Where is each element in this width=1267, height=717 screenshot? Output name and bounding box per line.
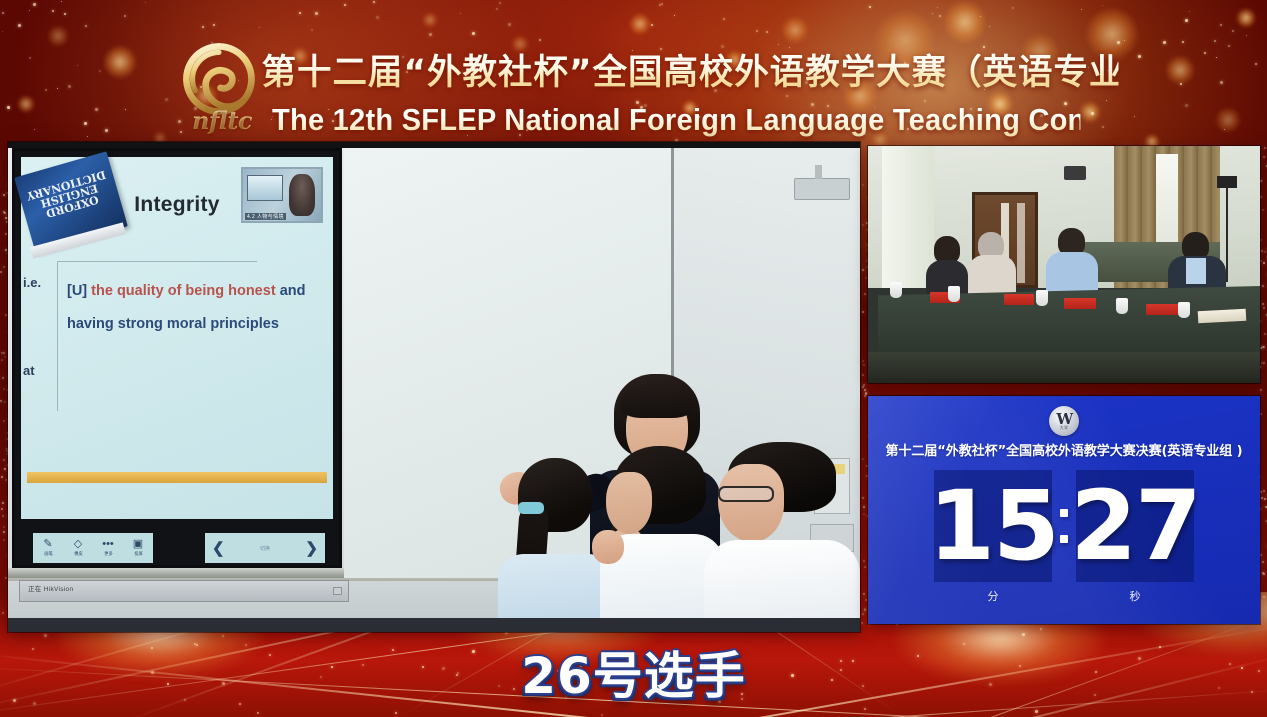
inset-monitor — [247, 175, 283, 201]
judges-video-panel[interactable] — [868, 146, 1260, 383]
judge-nameplate — [1146, 304, 1180, 315]
judge-body — [968, 255, 1016, 294]
colon-dot-top — [1060, 509, 1068, 517]
colon-dot-bottom — [1060, 535, 1068, 543]
toolbar-more-label: 更多 — [104, 551, 113, 557]
toolbar-screen-label: 投屏 — [134, 551, 143, 557]
display-brand-label: 正在 HikVision — [28, 583, 73, 593]
teacher-hair-front — [620, 384, 694, 418]
slide-side-label-2: at — [23, 363, 35, 378]
timer-unit-minutes: 分 — [934, 588, 1052, 604]
projector-mount-icon — [794, 178, 850, 200]
water-cup — [948, 286, 960, 302]
chevron-left-icon[interactable]: ❮ — [212, 539, 225, 557]
countdown-timer-panel: W 大学 第十二届“外教社杯”全国高校外语教学大赛决赛(英语专业组 ) 15 2… — [868, 396, 1260, 624]
camera-tripod-icon — [1226, 186, 1228, 282]
toolbar-screen-button[interactable]: ▣ 投屏 — [123, 533, 153, 563]
judge-figure — [924, 236, 970, 294]
judge-nameplate — [1064, 298, 1096, 309]
judges-room-floor — [868, 352, 1260, 383]
contest-title-cn: 第十二届“外教社杯”全国高校外语教学大赛（英语专业组） — [262, 48, 1119, 98]
nfltc-wordmark: nfltc — [172, 106, 272, 135]
broadcast-stage: nfltc 第十二届“外教社杯”全国高校外语教学大赛（英语专业组） The 12… — [0, 0, 1267, 717]
judge-figure — [966, 232, 1018, 294]
student-face — [718, 464, 784, 542]
inset-figure — [289, 174, 315, 216]
slide-inset-image: 4.2 人物与情境 — [241, 167, 323, 223]
slide-definition: [U] the quality of being honest and havi… — [67, 275, 329, 341]
slide-divider-horizontal — [57, 261, 257, 262]
screen-icon: ▣ — [133, 539, 143, 550]
smart-display[interactable]: OXFORD ENGLISH DICTIONARY Integrity 4.2 … — [12, 148, 342, 568]
students-group — [438, 438, 860, 618]
more-icon: ••• — [102, 539, 114, 550]
judge-body — [926, 260, 968, 294]
water-cup — [1178, 302, 1190, 318]
judge-shirt — [1186, 258, 1206, 284]
timer-unit-seconds: 秒 — [1076, 588, 1194, 604]
main-video-panel[interactable]: Integrity OXFORD ENGLISH DICTIONARY Inte… — [8, 142, 860, 632]
student-hair-tie — [518, 502, 544, 514]
water-cup — [1116, 298, 1128, 314]
timer-clock: 15 27 — [868, 468, 1260, 584]
judge-nameplate — [1004, 294, 1034, 305]
shield-w-logo-icon: W 大学 — [1049, 406, 1079, 436]
eraser-icon: ◇ — [74, 539, 82, 550]
glasses-icon — [718, 486, 774, 502]
wall-speaker-icon — [1064, 166, 1086, 180]
nfltc-logo: nfltc — [172, 40, 272, 140]
student-face — [606, 472, 652, 534]
slide-side-label-1: i.e. — [23, 275, 41, 290]
definition-rest: and — [280, 283, 306, 299]
logo-letter: W — [1056, 412, 1071, 426]
timer-seconds-block: 27 — [1076, 470, 1194, 582]
timer-minutes-block: 15 — [934, 470, 1052, 582]
pen-icon: ✎ — [43, 539, 52, 550]
spiral-swirl-icon — [182, 42, 256, 116]
timer-minutes: 15 — [928, 478, 1058, 574]
slide-divider-vertical — [57, 261, 58, 411]
slide-bottom-strip — [27, 472, 327, 483]
slide-nav-label: 切换 — [260, 545, 270, 552]
presentation-slide: OXFORD ENGLISH DICTIONARY Integrity 4.2 … — [21, 157, 333, 519]
score-sheet — [1198, 309, 1247, 323]
display-slide-nav[interactable]: ❮ 切换 ❯ — [205, 533, 325, 563]
display-brand-bar: 正在 HikVision — [19, 580, 349, 602]
toolbar-pen-button[interactable]: ✎ 画笔 — [33, 533, 63, 563]
contest-header: nfltc 第十二届“外教社杯”全国高校外语教学大赛（英语专业组） The 12… — [0, 14, 1267, 132]
toolbar-more-button[interactable]: ••• 更多 — [93, 533, 123, 563]
student-hand — [592, 530, 624, 564]
student-shirt — [704, 540, 860, 618]
definition-highlight: the quality of being honest — [91, 283, 275, 299]
toolbar-eraser-label: 橡皮 — [74, 551, 83, 557]
timer-title: 第十二届“外教社杯”全国高校外语教学大赛决赛(英语专业组 ) — [870, 440, 1258, 459]
toolbar-eraser-button[interactable]: ◇ 橡皮 — [63, 533, 93, 563]
contest-title-en: The 12th SFLEP National Foreign Language… — [272, 100, 1080, 140]
display-power-button[interactable] — [333, 587, 342, 595]
water-cup — [890, 282, 902, 298]
definition-line2: having strong moral principles — [67, 316, 279, 332]
judge-figure — [1044, 228, 1100, 294]
video-letterbox-bottom — [8, 618, 860, 632]
display-toolbar[interactable]: ✎ 画笔 ◇ 橡皮 ••• 更多 ▣ 投屏 — [33, 533, 153, 563]
timer-unit-labels: 分 秒 — [868, 586, 1260, 606]
inset-caption: 4.2 人物与情境 — [245, 213, 286, 220]
water-cup — [1036, 290, 1048, 306]
timer-seconds: 27 — [1070, 478, 1200, 574]
contestant-caption: 26号选手 — [0, 635, 1267, 709]
definition-tag: [U] — [67, 283, 87, 299]
student-figure — [704, 442, 860, 618]
logo-sub: 大学 — [1060, 426, 1069, 430]
toolbar-pen-label: 画笔 — [44, 551, 53, 557]
judge-body — [1046, 252, 1098, 294]
chevron-right-icon[interactable]: ❯ — [305, 539, 318, 557]
